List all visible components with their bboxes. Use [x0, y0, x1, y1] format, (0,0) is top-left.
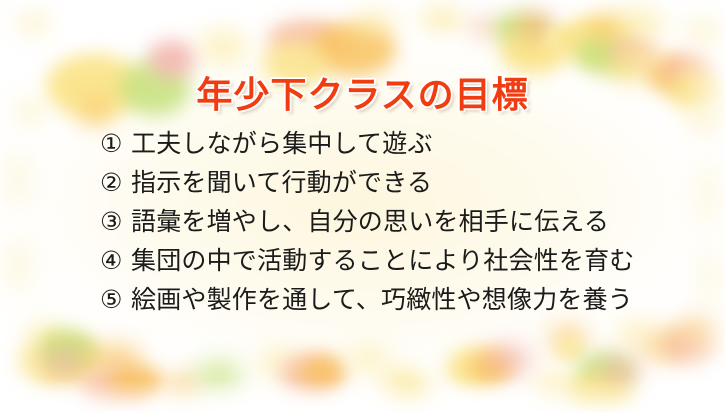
goal-number-marker: ⑤	[100, 285, 131, 315]
goal-item: ④集団の中で活動することにより社会性を育む	[100, 241, 701, 280]
goal-text: 工夫しながら集中して遊ぶ	[131, 124, 433, 160]
goal-text: 集団の中で活動することにより社会性を育む	[131, 241, 635, 277]
goal-text: 語彙を増やし、自分の思いを相手に伝える	[131, 202, 609, 238]
slide-canvas: 年少下クラスの目標 ①工夫しながら集中して遊ぶ②指示を聞いて行動ができる③語彙を…	[0, 0, 725, 412]
goal-item: ②指示を聞いて行動ができる	[100, 163, 701, 202]
page-title: 年少下クラスの目標	[0, 66, 725, 118]
goal-item: ③語彙を増やし、自分の思いを相手に伝える	[100, 202, 701, 241]
slide-content: 年少下クラスの目標 ①工夫しながら集中して遊ぶ②指示を聞いて行動ができる③語彙を…	[0, 0, 725, 412]
goal-number-marker: ③	[100, 207, 131, 237]
goal-number-marker: ①	[100, 129, 131, 159]
goal-text: 絵画や製作を通して、巧緻性や想像力を養う	[131, 280, 633, 316]
goal-text: 指示を聞いて行動ができる	[131, 163, 432, 199]
goal-item: ①工夫しながら集中して遊ぶ	[100, 124, 701, 163]
goal-number-marker: ②	[100, 168, 131, 198]
goal-list: ①工夫しながら集中して遊ぶ②指示を聞いて行動ができる③語彙を増やし、自分の思いを…	[100, 124, 701, 319]
goal-number-marker: ④	[100, 246, 131, 276]
goal-item: ⑤絵画や製作を通して、巧緻性や想像力を養う	[100, 280, 701, 319]
